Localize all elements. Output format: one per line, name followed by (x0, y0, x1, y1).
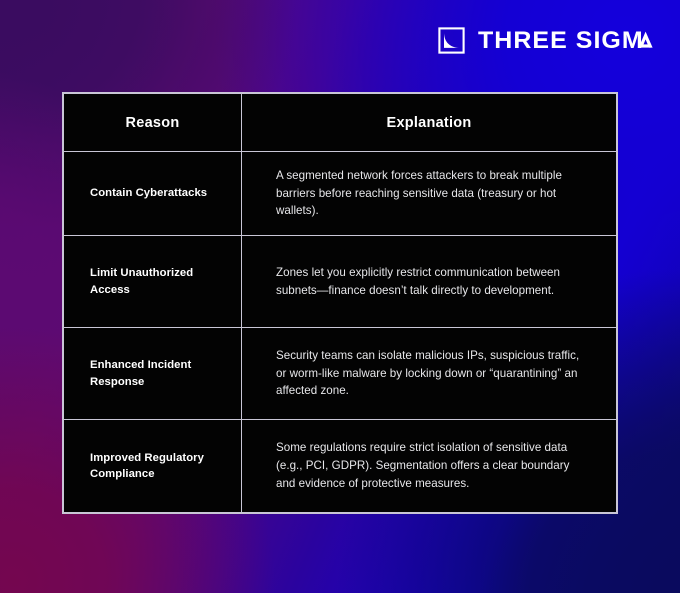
slide-canvas: THREE SIGM Reason Explanation Contain (0, 0, 680, 593)
table-row: Enhanced Incident Response Security team… (64, 328, 617, 420)
brand-wordmark-text: THREE SIGM (478, 29, 644, 53)
reasons-table-container: Reason Explanation Contain Cyberattacks … (62, 92, 618, 514)
cell-explanation: Security teams can isolate malicious IPs… (242, 328, 617, 420)
cell-reason: Improved Regulatory Compliance (64, 420, 242, 513)
three-sigma-square-curve-logo-icon (438, 27, 465, 54)
brand-logo-lockup: THREE SIGM (438, 27, 653, 54)
cell-explanation: A segmented network forces attackers to … (242, 152, 617, 236)
cell-reason: Enhanced Incident Response (64, 328, 242, 420)
table-body: Contain Cyberattacks A segmented network… (64, 152, 617, 513)
table-row: Improved Regulatory Compliance Some regu… (64, 420, 617, 513)
delta-letter-a-icon (638, 31, 653, 48)
table-header: Reason Explanation (64, 94, 617, 152)
cell-explanation: Some regulations require strict isolatio… (242, 420, 617, 513)
table-header-row: Reason Explanation (64, 94, 617, 152)
column-header-explanation: Explanation (242, 94, 617, 152)
cell-reason: Limit Unauthorized Access (64, 236, 242, 328)
cell-explanation: Zones let you explicitly restrict commun… (242, 236, 617, 328)
cell-reason: Contain Cyberattacks (64, 152, 242, 236)
brand-wordmark: THREE SIGM (478, 29, 653, 53)
table-row: Limit Unauthorized Access Zones let you … (64, 236, 617, 328)
column-header-reason: Reason (64, 94, 242, 152)
reasons-table: Reason Explanation Contain Cyberattacks … (63, 93, 617, 513)
table-row: Contain Cyberattacks A segmented network… (64, 152, 617, 236)
